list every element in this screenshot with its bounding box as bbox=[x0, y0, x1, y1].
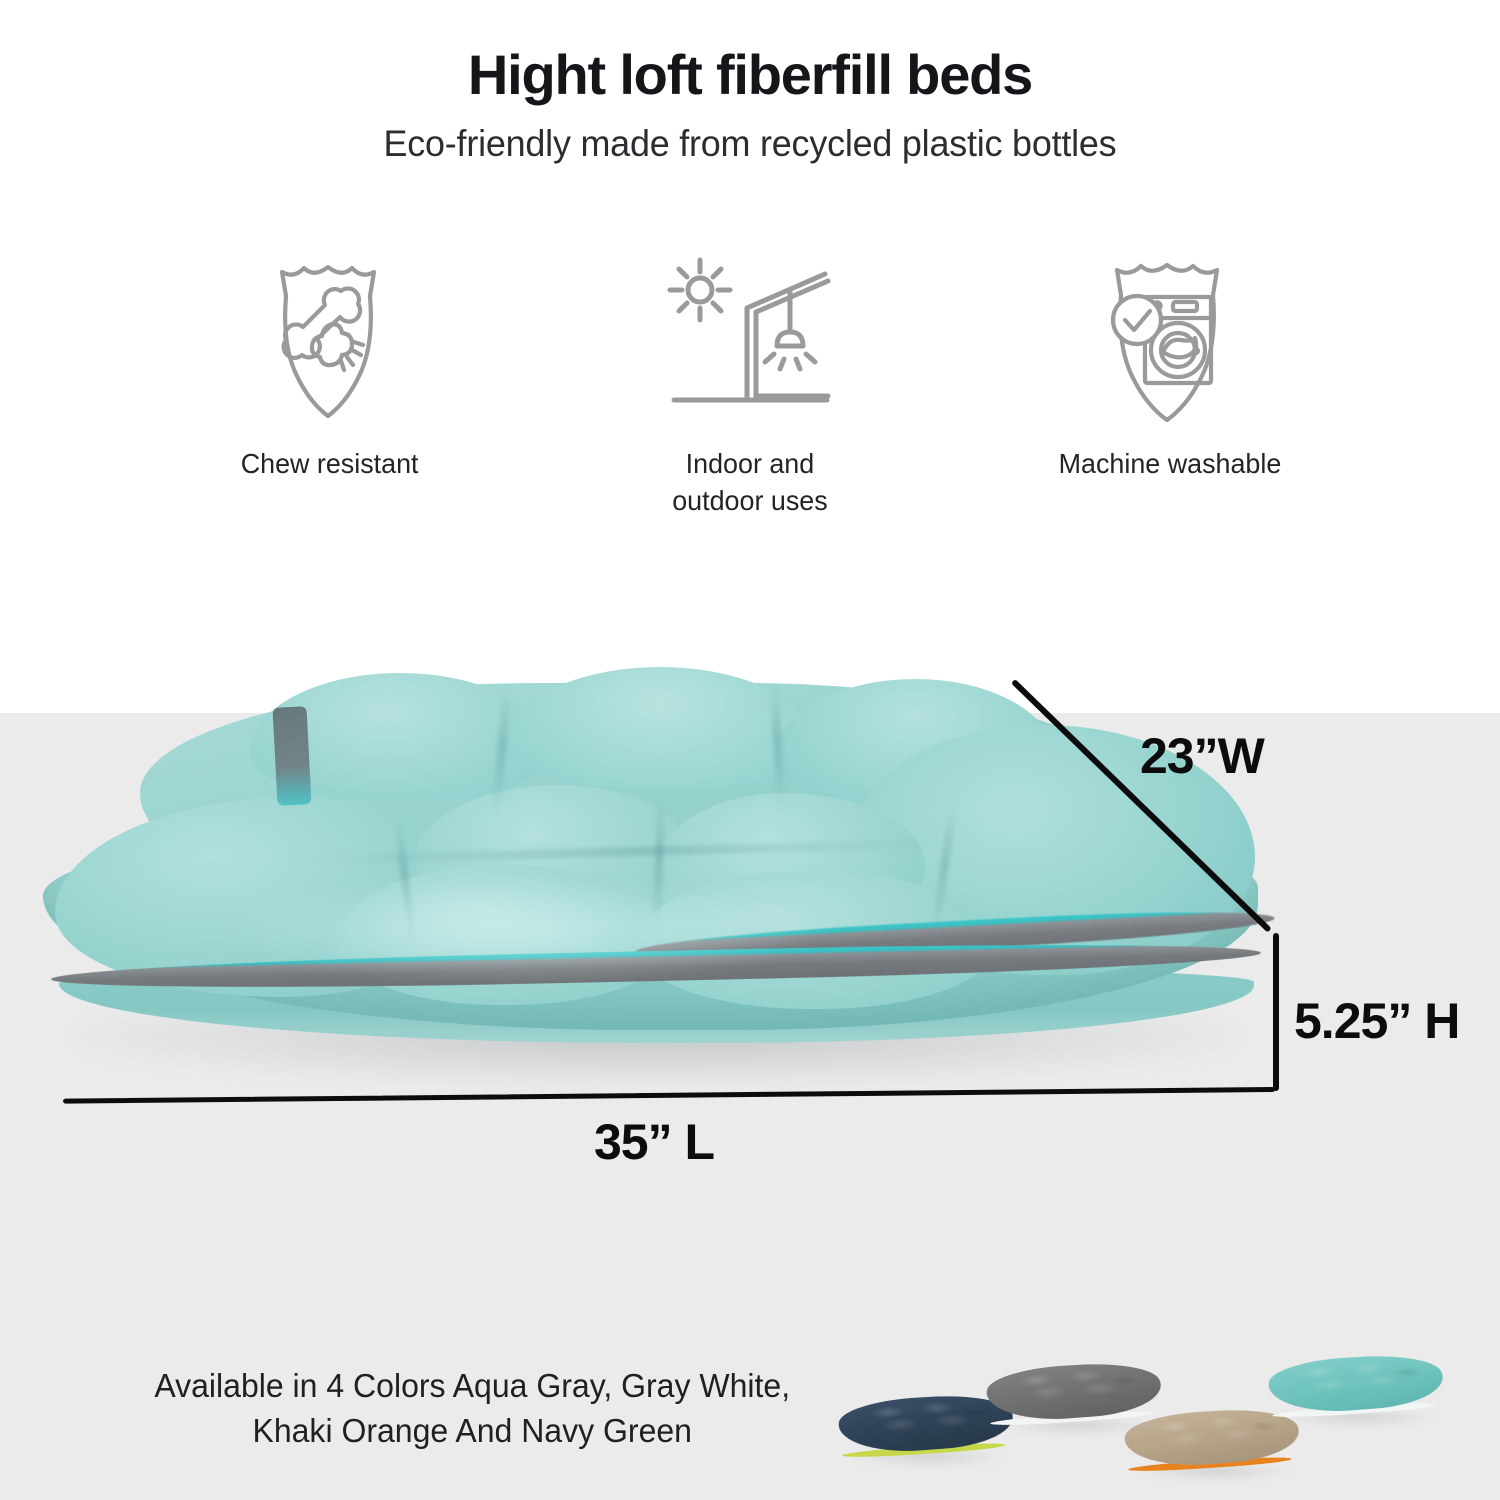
page-title: Hight loft fiberfill beds bbox=[0, 46, 1500, 105]
dimension-label-width: 23”W bbox=[1140, 727, 1264, 785]
sun-lamp-icon bbox=[660, 252, 840, 422]
feature-list: Chew resistant bbox=[0, 252, 1500, 520]
available-colors-text: Available in 4 Colors Aqua Gray, Gray Wh… bbox=[12, 1364, 817, 1454]
shield-bone-icon bbox=[262, 252, 398, 422]
product-image-dog-bed bbox=[35, 665, 1265, 1065]
dimension-label-height: 5.25” H bbox=[1294, 992, 1459, 1050]
feature-indoor-outdoor: Indoor and outdoor uses bbox=[540, 252, 960, 520]
feature-label: Indoor and outdoor uses bbox=[672, 446, 827, 520]
color-swatch-gallery bbox=[840, 1338, 1500, 1500]
dimension-label-length: 35” L bbox=[594, 1113, 714, 1171]
header: Hight loft fiberfill beds Eco-friendly m… bbox=[0, 46, 1500, 165]
page-subtitle: Eco-friendly made from recycled plastic … bbox=[23, 123, 1478, 165]
product-infographic: Hight loft fiberfill beds Eco-friendly m… bbox=[0, 0, 1500, 1500]
bed-corner-tag bbox=[272, 706, 311, 806]
dimension-line-height bbox=[1273, 933, 1279, 1091]
shield-washer-icon bbox=[1095, 252, 1245, 422]
feature-label: Chew resistant bbox=[241, 446, 419, 483]
feature-machine-washable: Machine washable bbox=[960, 252, 1380, 520]
bed-highlight bbox=[215, 875, 835, 985]
feature-label: Machine washable bbox=[1059, 446, 1282, 483]
color-swatch-aqua-gray[interactable] bbox=[1270, 1338, 1446, 1422]
feature-chew-resistant: Chew resistant bbox=[120, 252, 540, 520]
